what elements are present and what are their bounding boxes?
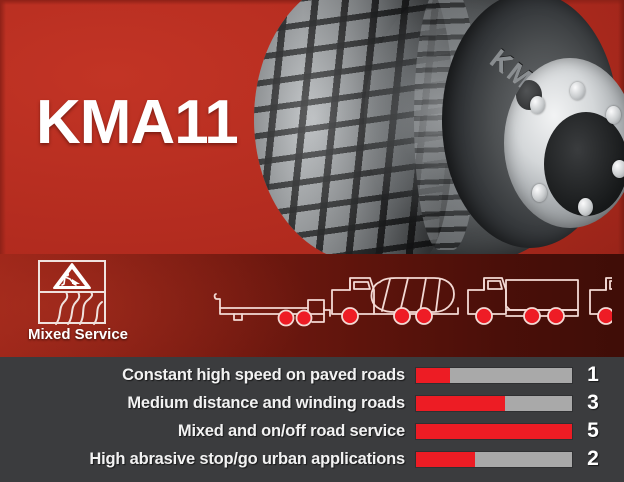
rating-value: 5 — [573, 419, 613, 443]
mixed-service-badge: Mixed Service — [14, 258, 142, 354]
rating-row: Constant high speed on paved roads 1 — [0, 361, 624, 389]
winding-road-icon — [56, 292, 102, 324]
rating-bar — [415, 367, 573, 384]
rating-bar-fill — [416, 368, 450, 383]
lug-nut-icon — [530, 96, 545, 114]
hero-panel: KMA 11 KMA11 — [0, 0, 624, 254]
performance-ratings-panel: Constant high speed on paved roads 1 Med… — [0, 357, 624, 482]
steel-wheel-rim — [504, 58, 624, 228]
rating-value: 3 — [573, 391, 613, 415]
tire-product-image: KMA 11 — [246, 0, 624, 254]
lug-nut-icon — [532, 184, 547, 202]
rating-value: 2 — [573, 447, 613, 471]
rating-label: Medium distance and winding roads — [0, 394, 415, 413]
lug-nut-icon — [612, 160, 624, 178]
mixed-service-label: Mixed Service — [14, 326, 142, 343]
concrete-mixer-truck-icon — [332, 278, 458, 324]
dump-truck-3-axle-icon — [468, 278, 578, 324]
truck-application-icons — [212, 266, 612, 340]
rating-bar-fill — [416, 452, 475, 467]
tire-product-infographic: KMA 11 KMA11 — [0, 0, 624, 482]
application-band: Mixed Service — [0, 254, 624, 357]
product-title: KMA11 — [36, 92, 238, 154]
rating-bar-fill — [416, 396, 505, 411]
rating-label: High abrasive stop/go urban applications — [0, 450, 415, 469]
lug-nut-icon — [606, 106, 621, 124]
flatbed-trailer-icon — [215, 294, 330, 326]
rating-row: Medium distance and winding roads 3 — [0, 389, 624, 417]
rating-label: Mixed and on/off road service — [0, 422, 415, 441]
lug-nut-icon — [570, 82, 585, 100]
mixed-service-symbols — [14, 258, 142, 328]
rating-row: High abrasive stop/go urban applications… — [0, 445, 624, 473]
dump-truck-4-axle-icon — [590, 278, 612, 324]
roadwork-sign-icon — [54, 264, 90, 288]
lug-nut-icon — [578, 198, 593, 216]
rating-bar — [415, 451, 573, 468]
rating-value: 1 — [573, 363, 613, 387]
hero-left-edge — [0, 0, 6, 254]
rating-bar — [415, 423, 573, 440]
rating-label: Constant high speed on paved roads — [0, 366, 415, 385]
rating-bar-fill — [416, 424, 572, 439]
rating-row: Mixed and on/off road service 5 — [0, 417, 624, 445]
rating-bar — [415, 395, 573, 412]
